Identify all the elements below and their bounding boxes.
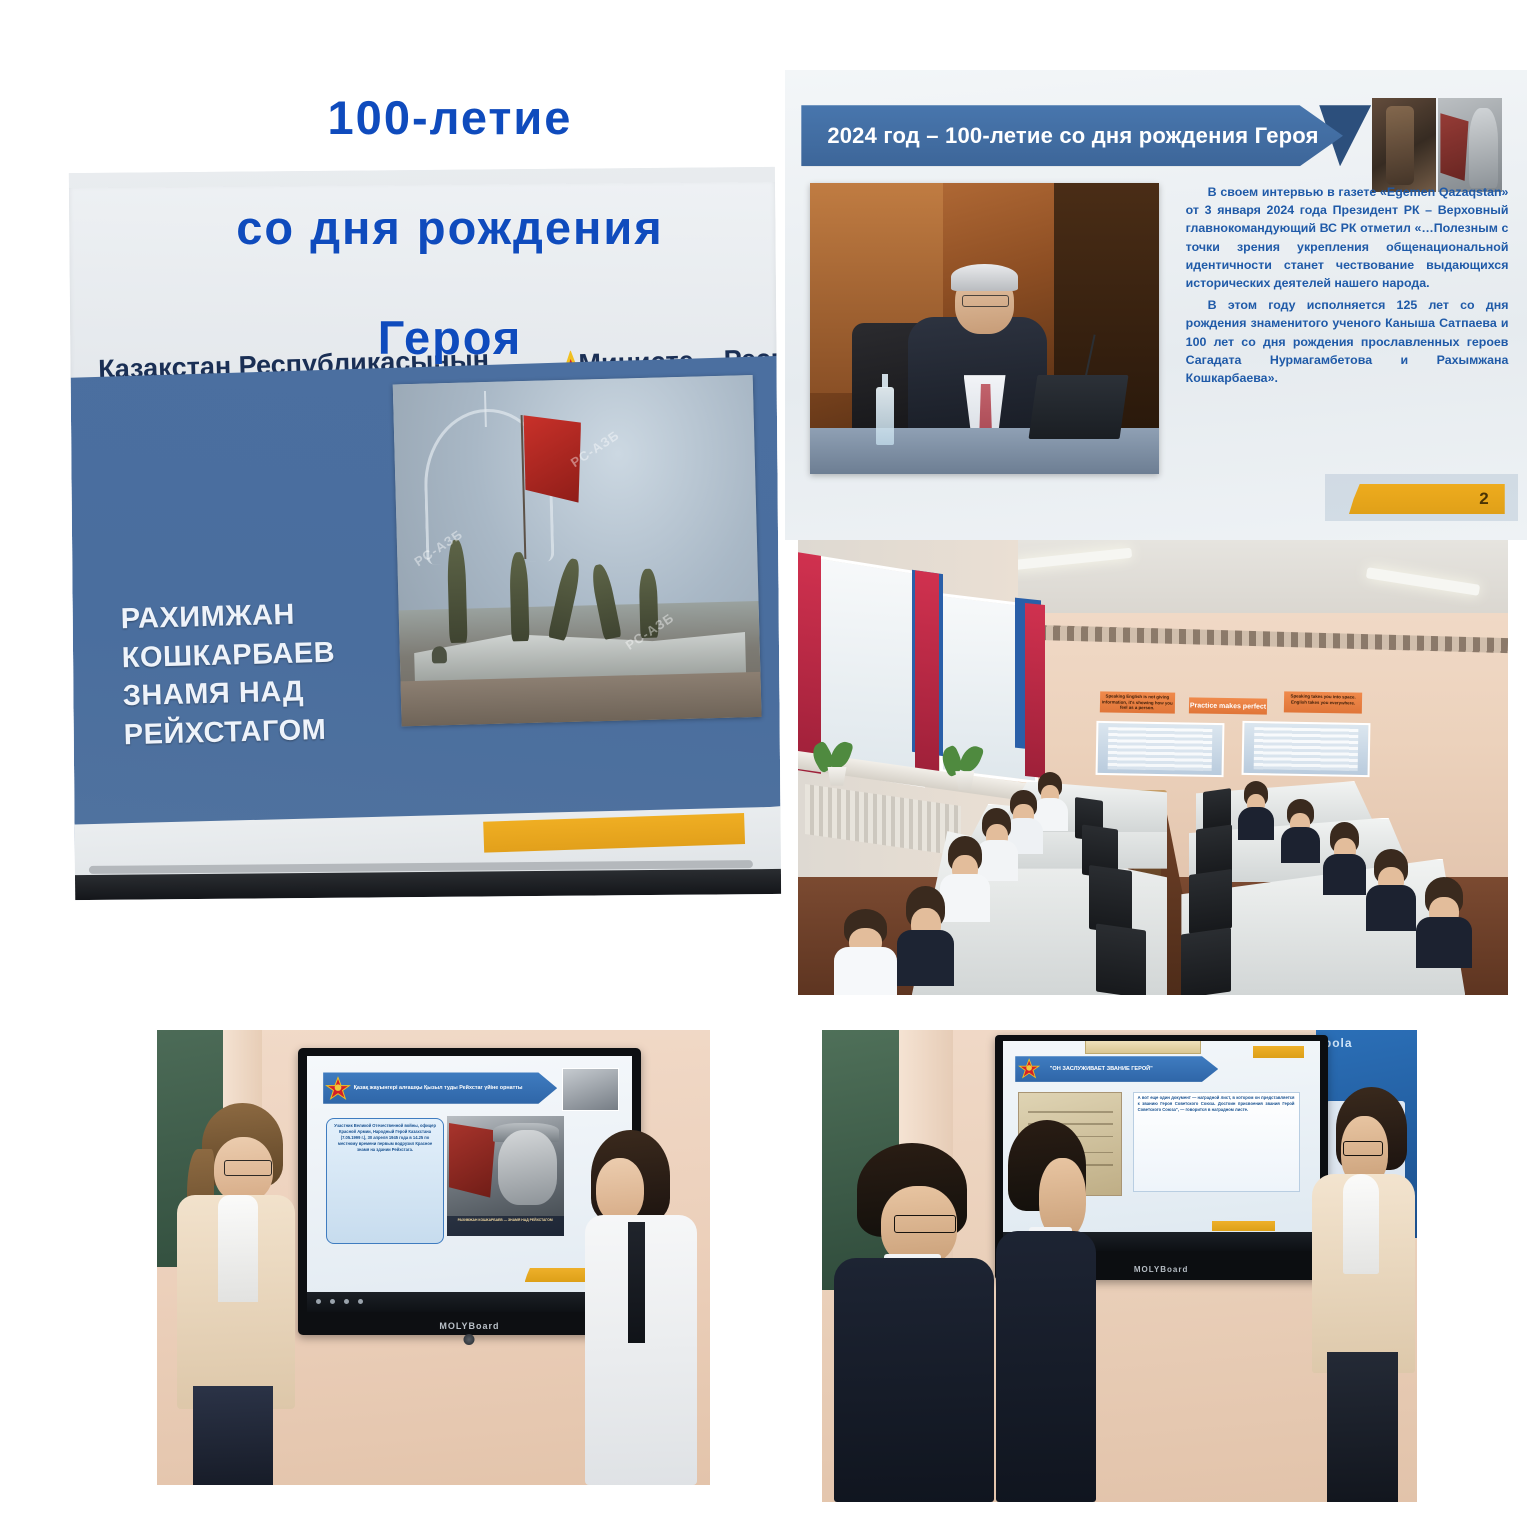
slide-textbox: Участник Великой Отечественной войны, оф… xyxy=(326,1118,443,1244)
slide2-title: 2024 год – 100-летие со дня рождения Гер… xyxy=(801,123,1318,149)
hair xyxy=(951,264,1017,290)
school-uniform xyxy=(834,1258,994,1502)
info-board xyxy=(1096,721,1225,777)
projector-frame xyxy=(75,869,781,900)
curtain xyxy=(915,570,939,778)
slide2-title-band: 2024 год – 100-летие со дня рождения Гер… xyxy=(801,105,1343,166)
student xyxy=(1281,799,1320,863)
curtain xyxy=(1025,603,1045,778)
teacher xyxy=(1310,1087,1417,1502)
wall-poster-left: Speaking English is not giving informati… xyxy=(1100,692,1175,714)
slide-title-band: "ОН ЗАСЛУЖИВАЕТ ЗВАНИЕ ГЕРОЙ" xyxy=(1015,1056,1218,1082)
slide-orange-tab xyxy=(1253,1046,1304,1058)
photo-collage: 100-летие со дня рождения Героя Қазақста… xyxy=(0,0,1536,1536)
portrait-caption: РАХИМЖАН КОШКАРБАЕВ — ЗНАМЯ НАД РЕЙХСТАГ… xyxy=(447,1216,564,1222)
app-icon[interactable] xyxy=(358,1299,363,1304)
portrait-face xyxy=(498,1130,557,1205)
student xyxy=(1416,877,1473,968)
potted-plant xyxy=(940,745,990,791)
necktie xyxy=(628,1222,645,1343)
flower-pot xyxy=(953,771,977,790)
slide1-caption: РАХИМЖАН КОШКАРБАЕВ ЗНАМЯ НАД РЕЙХСТАГОМ xyxy=(121,592,421,754)
slide-orange-bar xyxy=(1212,1221,1275,1231)
wall-poster-left-text: Speaking English is not giving informati… xyxy=(1100,692,1175,712)
glasses-icon xyxy=(894,1215,956,1233)
slide-textbox-text: А вот еще один документ — наградной лист… xyxy=(1138,1095,1295,1113)
president-photo xyxy=(810,183,1159,474)
page-title-line-2: со дня рождения xyxy=(150,201,750,256)
photo-boys-at-board: pola "ОН ЗАСЛУЖИВАЕТ ЗВАНИЕ ГЕРОЙ" xyxy=(822,1030,1417,1502)
slide-textbox: А вот еще один документ — наградной лист… xyxy=(1133,1092,1300,1192)
student-girl-left xyxy=(168,1103,323,1485)
taskview-icon[interactable] xyxy=(344,1299,349,1304)
painting-soldier xyxy=(509,552,529,641)
page-title-line-3: Героя xyxy=(150,311,750,366)
wall-poster-middle-text: Practice makes perfect xyxy=(1188,698,1266,713)
wall-poster-right: Speaking takes you into space. English t… xyxy=(1284,692,1362,714)
uniform xyxy=(1416,917,1473,968)
monitor xyxy=(1189,869,1232,934)
school-uniform xyxy=(996,1231,1096,1502)
glasses-icon xyxy=(1343,1141,1383,1156)
student xyxy=(1323,822,1366,895)
glasses-icon xyxy=(224,1160,272,1176)
historic-photo-soldier-flag xyxy=(1438,98,1502,192)
water-bottle xyxy=(876,387,893,445)
student-boy-front xyxy=(834,1143,1001,1502)
slide2-page-badge: 2 xyxy=(1349,484,1505,515)
turtleneck xyxy=(218,1195,258,1302)
hero-portrait: РАХИМЖАН КОШКАРБАЕВ — ЗНАМЯ НАД РЕЙХСТАГ… xyxy=(447,1116,564,1236)
painting-soldier xyxy=(639,569,659,638)
wall-poster-middle: Practice makes perfect xyxy=(1188,698,1266,716)
student-boy-back xyxy=(989,1120,1108,1502)
photo-girls-at-board: Қазақ жауынгері алғашқы Қызыл туды Рейхс… xyxy=(157,1030,710,1485)
page-title-line-1: 100-летие xyxy=(150,91,750,146)
face xyxy=(596,1158,644,1222)
uniform xyxy=(834,947,898,995)
uniform xyxy=(1323,854,1366,895)
uniform xyxy=(1366,885,1416,931)
page-title: 100-летие со дня рождения Героя xyxy=(150,36,750,421)
photo-slide-president: 2024 год – 100-летие со дня рождения Гер… xyxy=(785,70,1527,540)
painting-helmet xyxy=(432,646,447,663)
painting-red-flag xyxy=(523,414,583,504)
leaf xyxy=(828,739,854,771)
uniform xyxy=(1281,827,1320,863)
side-display-logo: pola xyxy=(1316,1030,1417,1050)
portrait-caption-bar: РАХИМЖАН КОШКАРБАЕВ — ЗНАМЯ НАД РЕЙХСТАГ… xyxy=(447,1216,564,1236)
student xyxy=(1366,849,1416,931)
slide2-quote-text: В своем интервью в газете «Egemen Qazaqs… xyxy=(1186,183,1509,465)
military-star-emblem-icon xyxy=(1018,1058,1040,1080)
potted-plant xyxy=(812,740,862,786)
red-flag xyxy=(449,1123,496,1198)
leaf xyxy=(957,742,984,775)
wall-poster-right-text: Speaking takes you into space. English t… xyxy=(1284,692,1362,706)
monitor xyxy=(1096,923,1146,995)
glasses-icon xyxy=(962,295,1009,306)
student xyxy=(1238,781,1274,840)
military-star-emblem-icon xyxy=(325,1076,351,1101)
monitor xyxy=(1181,928,1231,995)
power-button[interactable] xyxy=(464,1334,475,1345)
slide-title-band: Қазақ жауынгері алғашқы Қызыл туды Рейхс… xyxy=(323,1072,557,1103)
search-icon[interactable] xyxy=(330,1299,335,1304)
turtleneck xyxy=(1343,1174,1379,1274)
slide2-page-number: 2 xyxy=(1479,489,1504,509)
uniform xyxy=(1238,807,1274,840)
reichstag-painting: РС-АЗБ РС-АЗБ РС-АЗБ xyxy=(392,375,761,726)
slide2-paragraph-2: В этом году исполняется 125 лет со дня р… xyxy=(1186,296,1509,387)
flower-pot xyxy=(825,767,849,786)
slide-top-strip xyxy=(1085,1041,1201,1055)
info-board xyxy=(1241,721,1370,777)
uniform xyxy=(897,930,954,986)
slide2-paragraph-1: В своем интервью в газете «Egemen Qazaqs… xyxy=(1186,183,1509,292)
student xyxy=(834,909,898,995)
slide-corner-photo xyxy=(562,1068,619,1111)
laptop xyxy=(1029,375,1129,439)
slide2-corner-photos xyxy=(1372,98,1502,192)
trousers xyxy=(1327,1352,1398,1502)
painting-wall xyxy=(400,672,761,726)
student-girl-right xyxy=(577,1130,710,1485)
slide-textbox-text: Участник Великой Отечественной войны, оф… xyxy=(331,1123,438,1153)
info-board-content xyxy=(1108,727,1213,771)
trousers xyxy=(193,1386,274,1485)
historic-photo-monument xyxy=(1372,98,1436,192)
student xyxy=(897,886,954,986)
photo-classroom: Speaking English is not giving informati… xyxy=(798,540,1508,995)
info-board-content xyxy=(1253,727,1358,771)
slide-title-text: Қазақ жауынгері алғашқы Қызыл туды Рейхс… xyxy=(323,1085,522,1092)
